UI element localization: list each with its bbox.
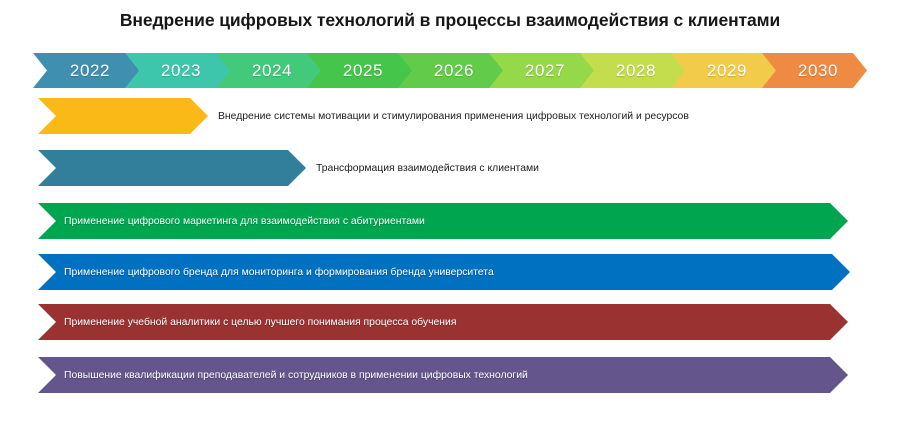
initiative-bar[interactable]: Применение цифрового маркетинга для взаи…	[38, 203, 848, 239]
timeline-year-label: 2022	[62, 61, 110, 81]
initiative-bar-label: Трансформация взаимодействия с клиентами	[316, 150, 539, 186]
initiative-bar[interactable]	[38, 150, 306, 186]
timeline-year-2025[interactable]: 2025	[306, 53, 412, 88]
initiative-bar[interactable]	[38, 98, 208, 134]
initiative-bar-label: Применение учебной аналитики с целью луч…	[64, 304, 456, 340]
timeline-year-strip: 202220232024202520262027202820292030	[33, 53, 863, 88]
timeline-year-label: 2027	[517, 61, 565, 81]
timeline-year-label: 2029	[699, 61, 747, 81]
initiative-bar-shape	[38, 150, 306, 186]
initiative-bar-label: Повышение квалификации преподавателей и …	[64, 357, 528, 393]
roadmap-diagram: Внедрение цифровых технологий в процессы…	[0, 0, 900, 422]
initiative-bar[interactable]: Применение учебной аналитики с целью луч…	[38, 304, 848, 340]
timeline-year-2027[interactable]: 2027	[488, 53, 594, 88]
timeline-year-2028[interactable]: 2028	[579, 53, 685, 88]
timeline-year-label: 2026	[426, 61, 474, 81]
initiative-bar-label: Внедрение системы мотивации и стимулиров…	[218, 98, 689, 134]
initiative-bar-shape	[38, 98, 208, 134]
timeline-year-2030[interactable]: 2030	[761, 53, 867, 88]
timeline-year-label: 2024	[244, 61, 292, 81]
initiative-bar[interactable]: Применение цифрового бренда для монитори…	[38, 254, 850, 290]
timeline-year-2026[interactable]: 2026	[397, 53, 503, 88]
timeline-year-label: 2030	[790, 61, 838, 81]
timeline-year-2022[interactable]: 2022	[33, 53, 139, 88]
timeline-year-label: 2028	[608, 61, 656, 81]
timeline-year-2029[interactable]: 2029	[670, 53, 776, 88]
page-title: Внедрение цифровых технологий в процессы…	[0, 10, 900, 31]
timeline-year-label: 2023	[153, 61, 201, 81]
initiative-bar[interactable]: Повышение квалификации преподавателей и …	[38, 357, 848, 393]
timeline-year-label: 2025	[335, 61, 383, 81]
timeline-year-2023[interactable]: 2023	[124, 53, 230, 88]
initiative-bar-label: Применение цифрового маркетинга для взаи…	[64, 203, 425, 239]
timeline-year-2024[interactable]: 2024	[215, 53, 321, 88]
initiative-bar-label: Применение цифрового бренда для монитори…	[64, 254, 494, 290]
